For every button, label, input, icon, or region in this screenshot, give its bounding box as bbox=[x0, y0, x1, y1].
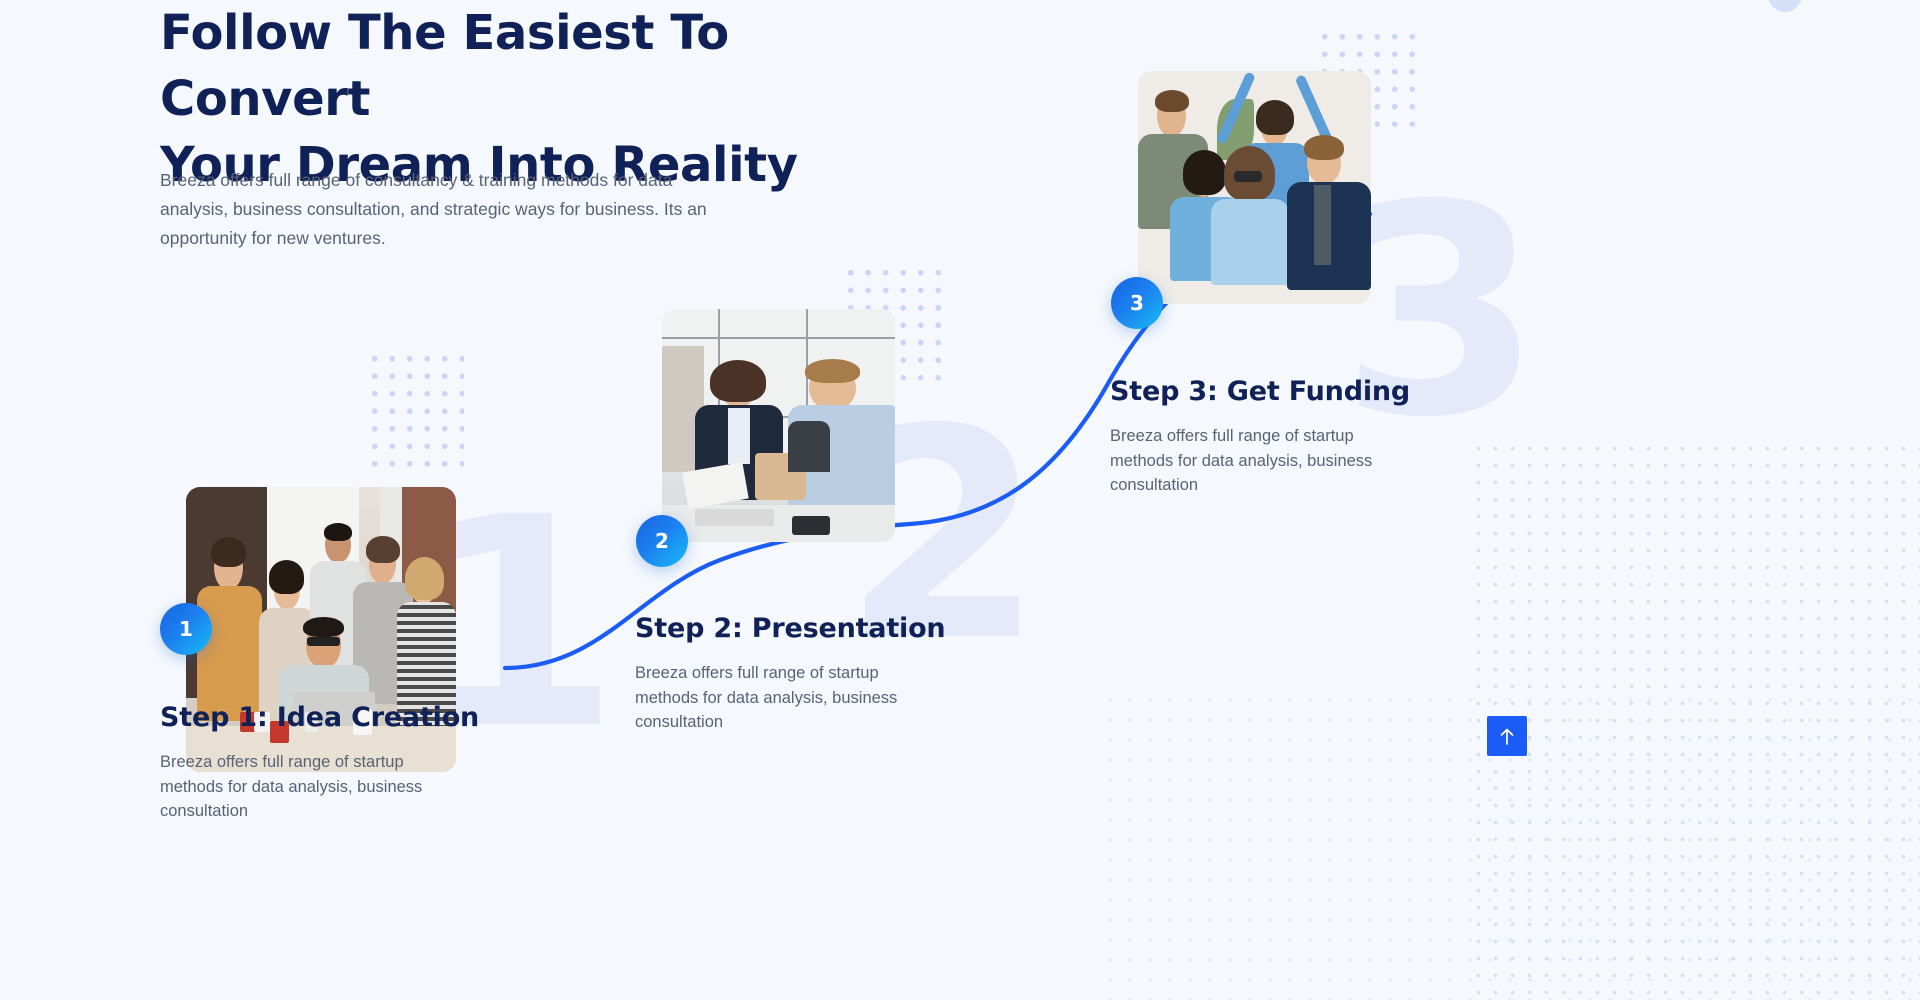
step-2-image bbox=[662, 309, 895, 542]
step-2-badge-number: 2 bbox=[655, 529, 669, 553]
arrow-up-icon bbox=[1499, 727, 1515, 745]
step-3-badge: 3 bbox=[1111, 277, 1163, 329]
decorative-blob bbox=[1768, 0, 1802, 12]
scroll-to-top-button[interactable] bbox=[1487, 716, 1527, 756]
step-1-badge-number: 1 bbox=[179, 617, 193, 641]
step-2-badge: 2 bbox=[636, 515, 688, 567]
section-description: Breeza offers full range of consultancy … bbox=[160, 166, 740, 252]
step-3-image bbox=[1138, 71, 1371, 304]
steps-section: 1 2 3 Follow The Easiest To Convert Your… bbox=[0, 0, 1920, 1000]
step-1-title: Step 1: Idea Creation bbox=[160, 702, 479, 733]
step-2-description: Breeza offers full range of startup meth… bbox=[635, 661, 925, 735]
dot-pattern-left bbox=[366, 350, 464, 470]
step-3-title: Step 3: Get Funding bbox=[1110, 376, 1410, 407]
step-1-description: Breeza offers full range of startup meth… bbox=[160, 750, 450, 824]
step-1-badge: 1 bbox=[160, 603, 212, 655]
step-3-badge-number: 3 bbox=[1130, 291, 1144, 315]
step-2-title: Step 2: Presentation bbox=[635, 613, 945, 644]
step-3-description: Breeza offers full range of startup meth… bbox=[1110, 424, 1400, 498]
page-title-line-1: Follow The Easiest To Convert bbox=[160, 0, 920, 132]
dot-pattern-far-right bbox=[1470, 440, 1920, 1000]
